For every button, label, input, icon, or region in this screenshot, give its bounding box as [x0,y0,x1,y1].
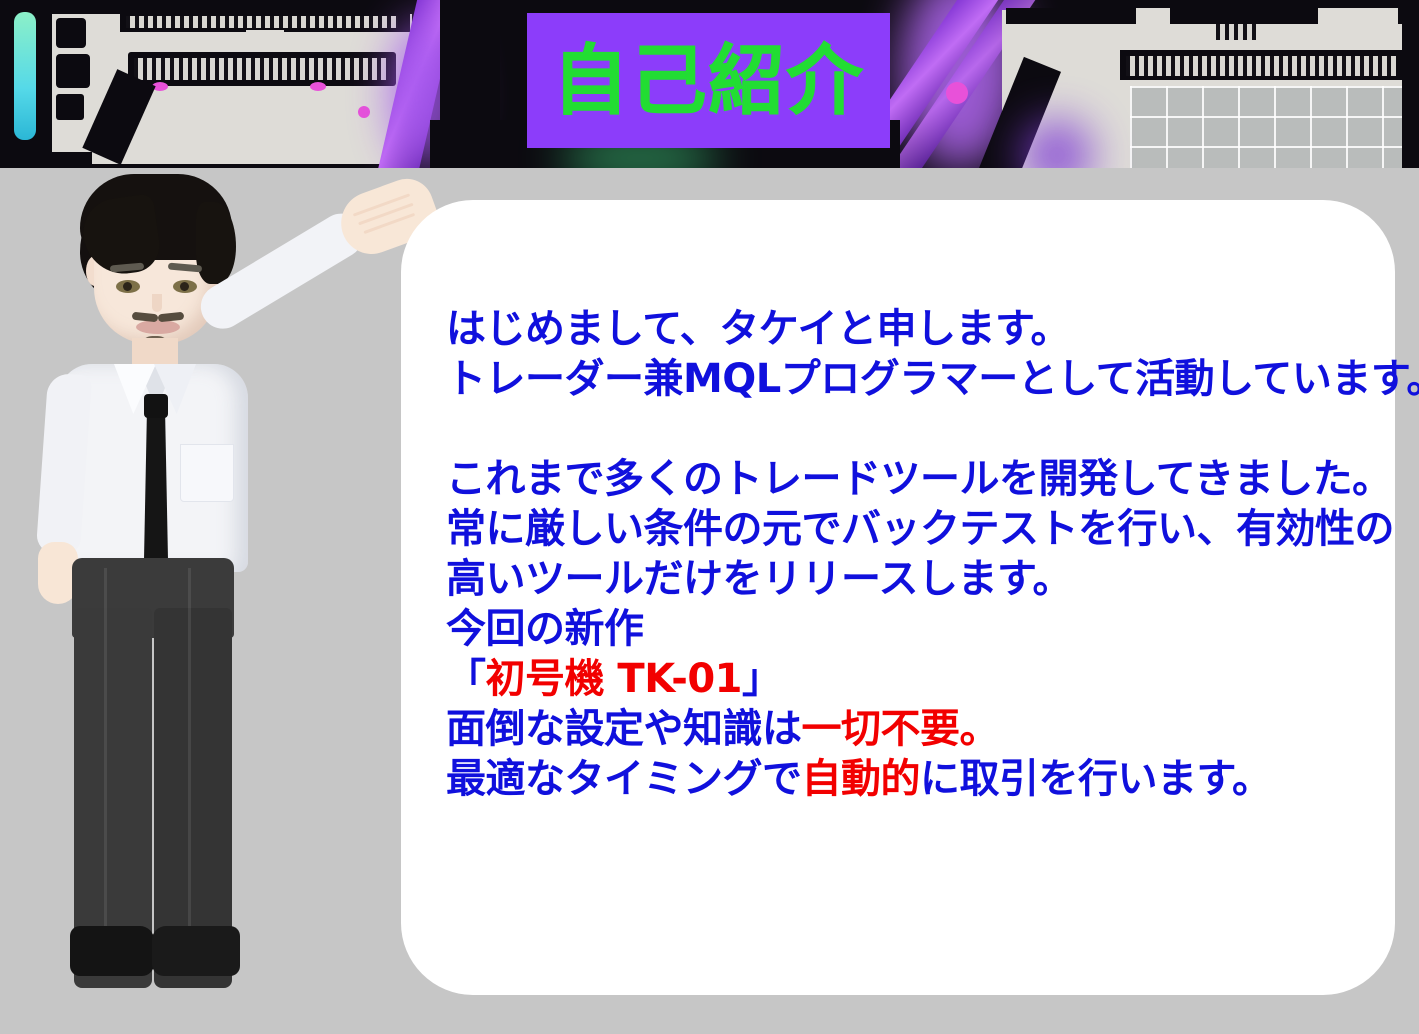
intro-text-line [446,404,1375,454]
avatar-pupil-left [123,282,132,291]
avatar-shoe-left [70,926,154,976]
header-banner-image: 自己紹介 [0,0,1419,168]
intro-text-line: 最適なタイミングで自動的に取引を行います。 [446,754,1375,804]
body-text: 常に厳しい条件の元でバックテストを行い、有効性の [446,506,1394,552]
body-text: これまで多くのトレードツールを開発してきました。 [446,456,1392,502]
intro-text-line: 高いツールだけをリリースします。 [446,554,1375,604]
avatar-mouth [136,320,180,334]
intro-text-line: はじめまして、タケイと申します。 [446,304,1375,354]
intro-text-line: トレーダー兼MQLプログラマーとして活動しています。 [446,354,1375,404]
body-text: 面倒な設定や知識は [446,706,802,752]
intro-text-line: 常に厳しい条件の元でバックテストを行い、有効性の [446,504,1375,554]
avatar-necktie-knot [144,394,168,418]
intro-text-line: 「初号機 TK-01」 [446,654,1375,704]
avatar-necktie [144,414,168,572]
intro-paragraph [446,404,1375,454]
intro-text-body: はじめまして、タケイと申します。トレーダー兼MQLプログラマーとして活動していま… [446,304,1375,804]
avatar-trouser-crease-left [104,568,107,968]
body-text: 最適なタイミングで [446,756,802,802]
section-title-plate: 自己紹介 [527,13,890,148]
slide-root: 自己紹介 [0,0,1419,1034]
intro-text-line: これまで多くのトレードツールを開発してきました。 [446,454,1375,504]
body-text: トレーダー兼MQLプログラマーとして活動しています。 [446,356,1419,402]
avatar-pupil-right [180,282,189,291]
intro-speech-card: はじめまして、タケイと申します。トレーダー兼MQLプログラマーとして活動していま… [401,200,1395,995]
intro-paragraph: これまで多くのトレードツールを開発してきました。常に厳しい条件の元でバックテスト… [446,454,1375,804]
intro-text-line: 今回の新作 [446,604,1375,654]
avatar-nose [152,294,162,312]
body-text: 高いツールだけをリリースします。 [446,556,1072,602]
highlighted-text: 自動的 [802,756,921,802]
body-text: 「 [446,656,486,702]
body-text: はじめまして、タケイと申します。 [446,306,1070,352]
body-text: 」 [742,656,782,702]
avatar-shirt-pocket [180,444,234,502]
section-title-text: 自己紹介 [553,43,865,119]
avatar-shoe-right [152,926,240,976]
body-text: に取引を行います。 [920,756,1272,802]
avatar-character [28,168,448,988]
highlighted-text: 一切不要。 [802,706,1000,752]
highlighted-text: 初号機 TK-01 [486,656,743,702]
avatar-trouser-crease-right [188,568,191,968]
intro-paragraph: はじめまして、タケイと申します。トレーダー兼MQLプログラマーとして活動していま… [446,304,1375,404]
body-text: 今回の新作 [446,606,644,652]
intro-text-line: 面倒な設定や知識は一切不要。 [446,704,1375,754]
